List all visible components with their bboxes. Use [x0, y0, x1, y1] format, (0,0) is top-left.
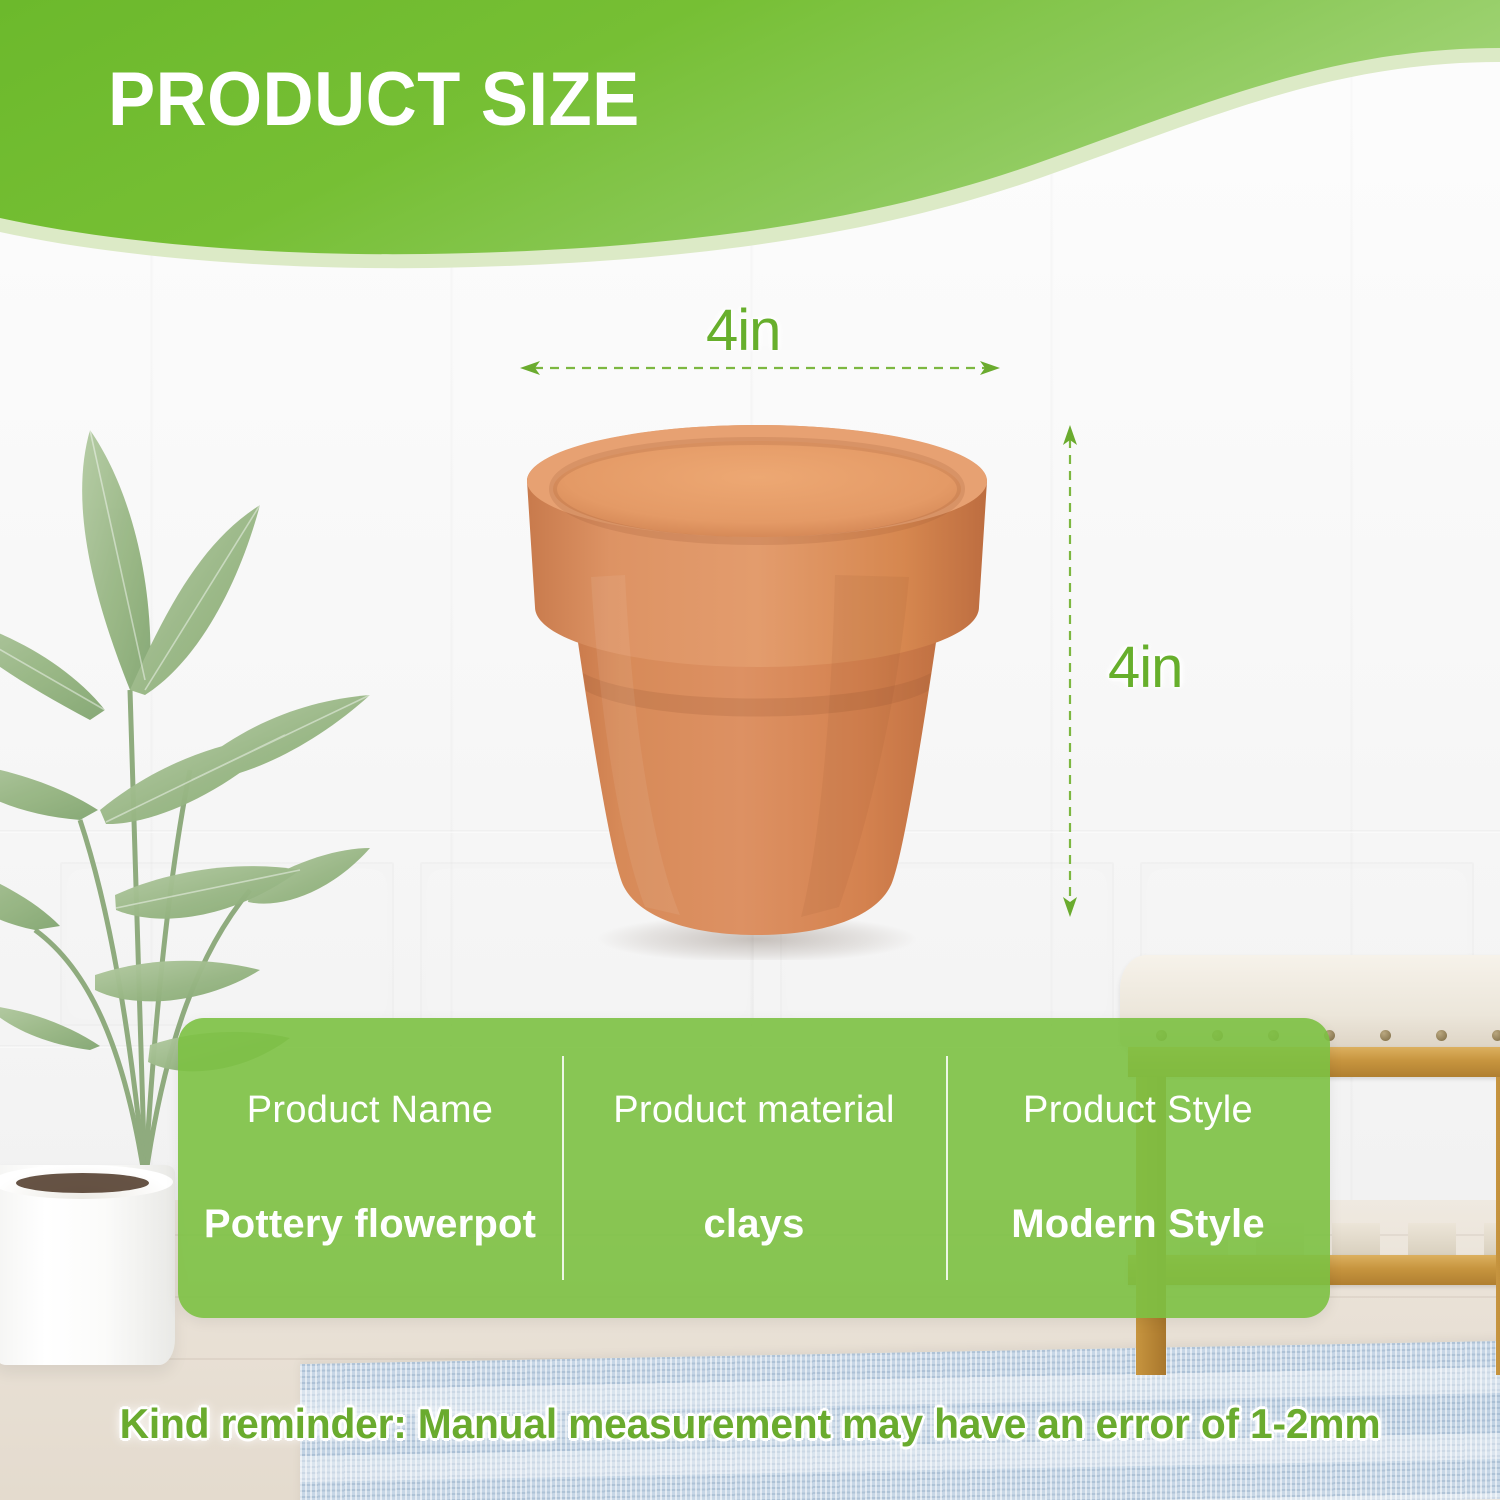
kind-reminder-note: Kind reminder: Manual measurement may ha… — [23, 1400, 1478, 1448]
spec-value: Pottery flowerpot — [204, 1202, 536, 1247]
spec-header: Product material — [613, 1089, 894, 1132]
spec-column-product-style: Product Style Modern Style — [946, 1018, 1330, 1318]
spec-header: Product Name — [247, 1089, 493, 1132]
white-planter — [0, 1165, 175, 1365]
spec-value: clays — [703, 1202, 804, 1247]
spec-column-product-material: Product material clays — [562, 1018, 946, 1318]
width-dimension-label: 4in — [706, 297, 780, 364]
spec-table: Product Name Pottery flowerpot Product m… — [178, 1018, 1330, 1318]
spec-header: Product Style — [1023, 1089, 1253, 1132]
spec-column-product-name: Product Name Pottery flowerpot — [178, 1018, 562, 1318]
height-dimension-line — [1058, 425, 1082, 917]
spec-value: Modern Style — [1011, 1202, 1265, 1247]
terracotta-flowerpot — [505, 415, 1005, 960]
planter-soil — [16, 1173, 149, 1193]
product-size-infographic: 4in 4in — [0, 0, 1500, 1500]
height-dimension-label: 4in — [1108, 634, 1182, 701]
width-dimension-line — [520, 356, 1000, 380]
bench-leg — [1496, 1077, 1500, 1375]
